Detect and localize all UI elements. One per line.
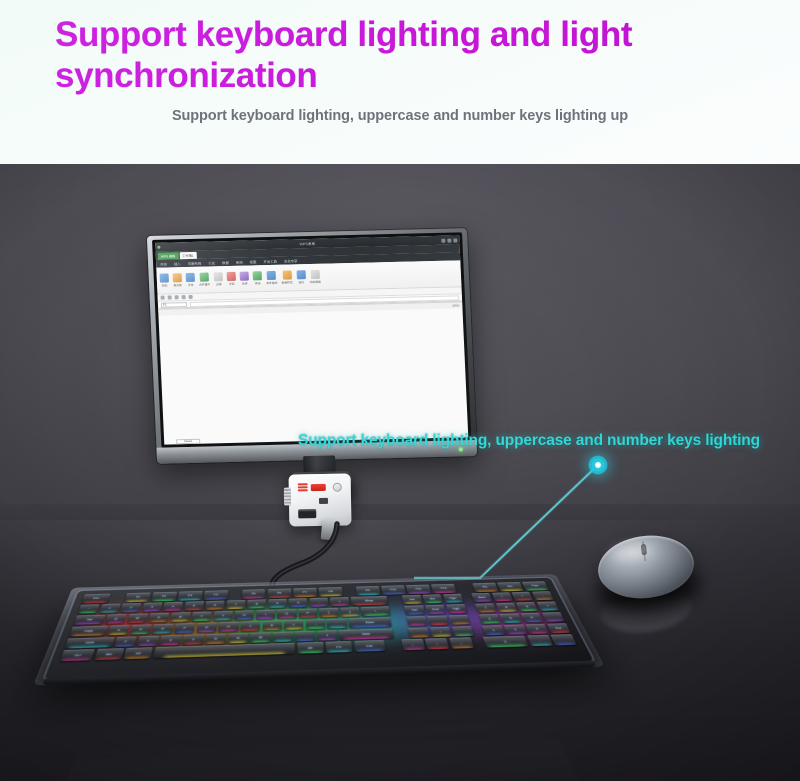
key-alt[interactable]: Alt	[297, 642, 324, 653]
key-f11[interactable]: F11	[406, 585, 431, 594]
key-9[interactable]: 9	[516, 602, 538, 612]
key-sym[interactable]: ↑	[430, 627, 452, 638]
menu-item-3[interactable]: 公式	[208, 260, 215, 265]
ribbon-button-8[interactable]: 条件格式	[266, 271, 278, 285]
sheet-tab[interactable]: Sheet1	[176, 438, 200, 444]
key-alt[interactable]: Alt	[124, 648, 153, 660]
ribbon-button-7[interactable]: 筛选	[253, 271, 263, 285]
key-sym[interactable]: /	[491, 592, 513, 601]
sum-icon	[227, 272, 236, 281]
key-sym[interactable]: ]	[340, 607, 360, 617]
redo-icon[interactable]	[175, 295, 179, 299]
key-f7[interactable]: F7	[293, 588, 317, 597]
key-enter[interactable]: Enter	[348, 617, 392, 628]
key-5[interactable]: 5	[184, 601, 204, 611]
menu-item-2[interactable]: 页面布局	[188, 260, 202, 265]
print-icon[interactable]	[182, 295, 186, 299]
ribbon-button-3[interactable]: 合并居中	[199, 272, 211, 286]
menu-item-6[interactable]: 视图	[249, 259, 256, 264]
key-f10[interactable]: F10	[381, 585, 406, 594]
filter-icon	[253, 271, 262, 280]
keyboard-spacer	[391, 606, 404, 616]
ribbon-label-6: 排序	[242, 282, 248, 286]
key-pgu[interactable]: PgU	[443, 594, 464, 603]
key-f8[interactable]: F8	[319, 587, 343, 596]
key-5[interactable]: 5	[500, 613, 523, 623]
key-prt[interactable]: Prt	[472, 583, 498, 592]
freeze-panes-icon	[310, 270, 319, 279]
key-f1[interactable]: F1	[125, 592, 151, 601]
sort-icon	[240, 272, 249, 281]
key-ins[interactable]: Ins	[402, 595, 422, 604]
key-r[interactable]: R	[170, 612, 191, 622]
key-f5[interactable]: F5	[241, 589, 265, 598]
ribbon-label-8: 条件格式	[266, 281, 277, 285]
ribbon-button-5[interactable]: 求和	[227, 272, 237, 286]
key-ctrl[interactable]: Ctrl	[60, 649, 95, 661]
wps-spreadsheet-app: WPS表格 WPS 表格 工作簿1 开始 插入	[155, 235, 468, 444]
key-sym[interactable]: *	[512, 592, 534, 601]
menu-item-1[interactable]: 插入	[174, 261, 181, 266]
key-y[interactable]: Y	[213, 611, 233, 621]
ribbon-label-1: 格式刷	[173, 283, 182, 287]
key-num[interactable]: Num	[471, 593, 492, 602]
key-3[interactable]: 3	[142, 602, 163, 612]
table-style-icon	[282, 271, 291, 280]
key-pau[interactable]: Pau	[522, 581, 549, 590]
callout-label: Support keyboard lighting, uppercase and…	[298, 432, 760, 450]
name-box[interactable]: F1	[161, 302, 187, 308]
key-sym[interactable]: ~	[78, 604, 100, 614]
key-t[interactable]: T	[192, 611, 212, 621]
dongle-dial-icon	[333, 483, 342, 492]
menu-item-0[interactable]: 开始	[160, 261, 167, 266]
key-space[interactable]	[153, 643, 295, 658]
maximize-icon[interactable]	[447, 238, 451, 242]
key-8[interactable]: 8	[496, 603, 518, 613]
monitor: WPS表格 WPS 表格 工作簿1 开始 插入	[147, 228, 477, 464]
product-feature-banner: Support keyboard lighting and light sync…	[0, 0, 800, 781]
key-c[interactable]: C	[160, 635, 182, 646]
key-sym[interactable]: →	[449, 638, 474, 649]
key-tab[interactable]: Tab	[73, 615, 105, 625]
key-win[interactable]: Win	[94, 648, 124, 660]
ribbon-button-6[interactable]: 排序	[240, 272, 250, 286]
rgb-mechanical-keyboard[interactable]: EscF1F2F3F4F5F6F7F8F9F10F11F12PrtScrPau~…	[44, 578, 594, 680]
header-section: Support keyboard lighting and light sync…	[0, 0, 800, 164]
ribbon-button-2[interactable]: 字体	[186, 273, 196, 287]
mouse-body[interactable]	[595, 530, 698, 603]
ribbon-label-0: 粘贴	[162, 284, 168, 288]
wireless-mouse[interactable]	[595, 530, 698, 603]
ribbon-label-5: 求和	[229, 282, 235, 286]
wps-title-text: WPS表格	[299, 241, 315, 246]
wps-document-tab[interactable]: 工作簿1	[179, 252, 197, 259]
key-f6[interactable]: F6	[267, 589, 291, 598]
font-icon	[186, 273, 195, 282]
key-sym[interactable]: ↓	[425, 638, 449, 649]
key-space[interactable]	[449, 615, 471, 625]
keyboard-spacer	[389, 595, 402, 604]
ribbon-button-0[interactable]: 粘贴	[160, 273, 170, 287]
key-w[interactable]: W	[127, 613, 149, 623]
save-icon[interactable]	[161, 296, 165, 300]
key-scr[interactable]: Scr	[497, 582, 524, 591]
key-space[interactable]	[551, 634, 577, 645]
dongle-chip-label	[319, 498, 328, 504]
product-photo: WPS表格 WPS 表格 工作簿1 开始 插入	[0, 164, 800, 781]
key-sym[interactable]: =	[330, 597, 349, 606]
key-1[interactable]: 1	[99, 604, 121, 614]
key-end[interactable]: End	[425, 605, 446, 615]
key-esc[interactable]: Esc	[82, 594, 111, 604]
merge-center-icon	[200, 273, 209, 282]
key-i[interactable]: I	[256, 610, 275, 620]
key-b[interactable]: B	[205, 633, 226, 644]
key-6[interactable]: 6	[205, 601, 225, 611]
key-u[interactable]: U	[235, 610, 255, 620]
key-sym[interactable]: .	[527, 635, 553, 646]
callout-marker-icon	[588, 455, 608, 475]
format-painter-icon	[173, 273, 182, 282]
keyboard-spacer	[466, 604, 476, 613]
ribbon-label-9: 表格样式	[281, 280, 292, 284]
key-hm[interactable]: Hm	[422, 594, 443, 603]
cloud-icon[interactable]	[189, 295, 193, 299]
dongle-vent-fins	[284, 488, 291, 506]
ribbon-label-2: 字体	[188, 283, 194, 287]
menu-item-4[interactable]: 数据	[222, 260, 229, 265]
key-f2[interactable]: F2	[151, 592, 177, 601]
wps-logo-tab[interactable]: WPS 表格	[158, 252, 179, 259]
key-sym[interactable]: ←	[401, 639, 425, 650]
key-sym[interactable]: -	[532, 591, 554, 600]
key-0[interactable]: 0	[482, 636, 529, 648]
key-h[interactable]: H	[218, 622, 238, 632]
window-controls[interactable]	[441, 238, 457, 242]
undo-icon[interactable]	[168, 295, 172, 299]
key-sym[interactable]: [	[319, 608, 339, 618]
ribbon-button-9[interactable]: 表格样式	[281, 270, 293, 284]
key-bksp[interactable]: Bksp	[350, 596, 388, 606]
key-x[interactable]: X	[137, 635, 160, 646]
usb-port	[298, 509, 316, 518]
key-e[interactable]: E	[148, 613, 169, 623]
key-z[interactable]: Z	[114, 636, 137, 647]
page-title: Support keyboard lighting and light sync…	[55, 14, 755, 96]
keyboard-spacer	[230, 590, 240, 599]
ribbon-label-11: 冻结窗格	[310, 280, 321, 284]
dongle-indicator-stripes	[298, 483, 308, 485]
key-q[interactable]: Q	[105, 614, 127, 624]
key-9[interactable]: 9	[268, 599, 287, 609]
key-8[interactable]: 8	[247, 599, 266, 609]
ribbon-label-10: 查找	[298, 280, 304, 284]
key-4[interactable]: 4	[163, 602, 184, 612]
menu-item-7[interactable]: 开发工具	[263, 258, 277, 263]
key-sym[interactable]: \	[361, 606, 391, 616]
menu-item-5[interactable]: 审阅	[236, 259, 243, 264]
ribbon-label-4: 边框	[216, 282, 222, 286]
conditional-format-icon	[267, 271, 276, 280]
key-sym[interactable]: ,	[273, 631, 293, 642]
key-ctrl[interactable]: Ctrl	[354, 640, 386, 651]
key-sym[interactable]: '	[327, 618, 347, 628]
ribbon-button-11[interactable]: 冻结窗格	[309, 270, 321, 284]
key-fn[interactable]: Fn	[325, 641, 352, 652]
key-del[interactable]: Del	[404, 605, 425, 615]
ribbon-button-1[interactable]: 格式刷	[173, 273, 183, 287]
key-pgd[interactable]: PgD	[446, 604, 467, 614]
wps-title-dot-icon	[157, 246, 160, 249]
keyboard-spacer	[473, 637, 484, 648]
key-sym[interactable]: -	[309, 598, 328, 607]
key-p[interactable]: P	[298, 608, 317, 618]
zoom-level[interactable]: 100%	[452, 303, 459, 307]
keyboard-spacer	[456, 583, 473, 592]
key-f4[interactable]: F4	[204, 590, 229, 599]
ribbon-label-3: 合并居中	[199, 282, 210, 286]
monitor-screen: WPS表格 WPS 表格 工作簿1 开始 插入	[152, 232, 471, 447]
usb-receiver-dongle	[289, 473, 352, 526]
key-0[interactable]: 0	[289, 598, 308, 608]
find-icon	[296, 270, 305, 279]
key-7[interactable]: 7	[475, 603, 497, 613]
key-o[interactable]: O	[277, 609, 296, 619]
ribbon-button-10[interactable]: 查找	[296, 270, 306, 284]
border-icon	[214, 272, 223, 281]
key-sym[interactable]: +	[536, 601, 559, 611]
usb-plug-connector	[321, 519, 337, 540]
key-f12[interactable]: F12	[431, 584, 457, 593]
keyboard-spacer	[463, 593, 472, 602]
keyboard-spacer	[386, 640, 401, 651]
menu-item-8[interactable]: 会员专享	[284, 258, 298, 263]
ribbon-label-7: 筛选	[255, 281, 261, 285]
key-shift[interactable]: Shift	[65, 637, 115, 649]
close-icon[interactable]	[453, 238, 457, 242]
key-f9[interactable]: F9	[356, 586, 381, 595]
key-space[interactable]	[427, 615, 449, 625]
key-f3[interactable]: F3	[177, 591, 202, 600]
keyboard-spacer	[344, 587, 354, 596]
page-subtitle: Support keyboard lighting, uppercase and…	[0, 108, 800, 124]
minimize-icon[interactable]	[441, 238, 445, 242]
key-7[interactable]: 7	[226, 600, 245, 610]
keyboard-spacer	[110, 593, 125, 602]
key-4[interactable]: 4	[479, 614, 501, 624]
key-shift[interactable]: Shift	[339, 628, 393, 640]
key-2[interactable]: 2	[120, 603, 141, 613]
dongle-red-button	[311, 484, 326, 491]
paste-icon	[160, 273, 169, 282]
ribbon-button-4[interactable]: 边框	[214, 272, 224, 286]
